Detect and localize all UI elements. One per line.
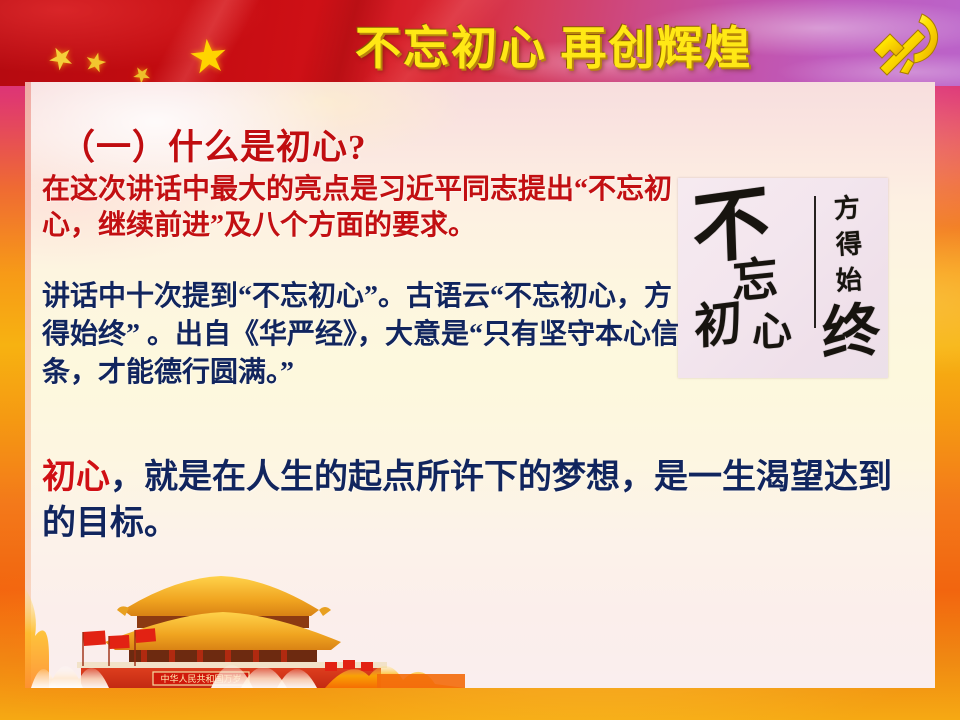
paragraph-red: 在这次讲话中最大的亮点是习近平同志提出“不忘初心，继续前进”及八个方面的要求。	[42, 172, 682, 244]
calligraphy-char-shi: 始	[835, 267, 863, 295]
calligraphy-image: 不 忘 初 心 方 得 始 终	[678, 178, 888, 378]
calligraphy-char-xin: 心	[752, 310, 793, 354]
conclusion-rest: ，就是在人生的起点所许下的梦想，是一生渴望达到的目标。	[42, 459, 892, 542]
calligraphy-char-chu: 初	[694, 299, 743, 353]
paragraph-conclusion: 初心，就是在人生的起点所许下的梦想，是一生渴望达到的目标。	[42, 455, 902, 547]
calligraphy-char-de: 得	[835, 231, 863, 259]
calligraphy-main-column: 不 忘 初 心	[686, 184, 810, 374]
tiananmen-gate-illustration: 中华人民共和国万岁	[25, 558, 465, 688]
calligraphy-side-column: 方 得 始 终	[824, 192, 882, 378]
calligraphy-char-zhong: 终	[822, 301, 881, 365]
calligraphy-divider-line	[814, 196, 816, 328]
paragraph-navy: 讲话中十次提到“不忘初心”。古语云“不忘初心，方得始终” 。出自《华严经》，大意…	[42, 278, 682, 392]
section-heading: （一）什么是初心?	[60, 119, 367, 170]
flag-star-large: ★	[186, 32, 232, 82]
slide-root: ★ ★ ★ ★ 不忘初心 再创辉煌	[0, 0, 960, 720]
conclusion-highlight: 初心	[42, 459, 110, 496]
page-title: 不忘初心 再创辉煌	[355, 12, 753, 78]
calligraphy-char-fang: 方	[833, 195, 861, 223]
cpc-hammer-sickle-emblem	[860, 6, 950, 82]
